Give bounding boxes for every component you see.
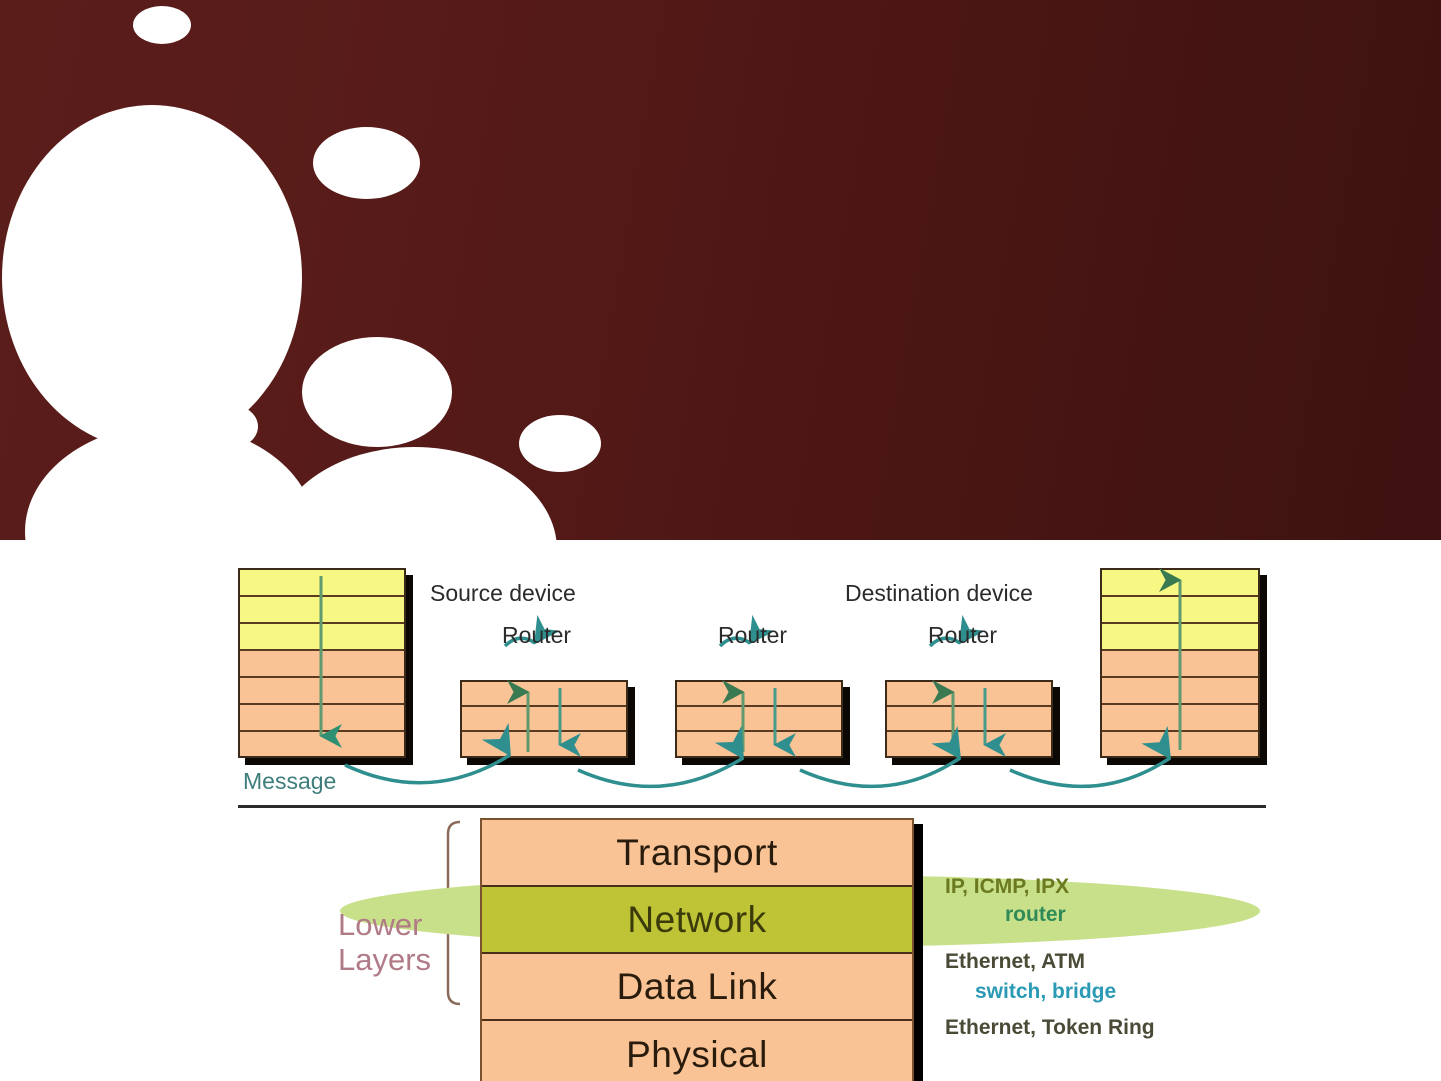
router-stack-2 [675, 680, 843, 758]
destination-device-stack [1100, 568, 1260, 758]
osi-transmission-diagram: Source device Destination device Router … [0, 540, 1441, 1081]
lower-layers-line-2: Layers [338, 943, 431, 978]
section-separator [238, 805, 1266, 808]
layer-row-network[interactable]: Network [482, 887, 912, 954]
annotation-network-protocols: IP, ICMP, IPX [945, 875, 1069, 899]
router-stack-3 [885, 680, 1053, 758]
title-banner [0, 0, 1441, 540]
source-device-stack [238, 568, 406, 758]
layer-row-datalink[interactable]: Data Link [482, 954, 912, 1021]
lower-layers-line-1: Lower [338, 908, 431, 943]
lower-layers-label: Lower Layers [338, 908, 431, 977]
annotation-physical-protocols: Ethernet, Token Ring [945, 1016, 1155, 1040]
layer-label-datalink: Data Link [617, 966, 778, 1008]
bubble-mid-lower [302, 337, 452, 447]
annotation-datalink-protocols: Ethernet, ATM [945, 950, 1085, 974]
osi-layer-table: Transport Network Data Link Physical [480, 818, 914, 1081]
layer-row-physical[interactable]: Physical [482, 1021, 912, 1081]
bubble-mid-upper [313, 127, 420, 199]
bubble-bottom-right [272, 447, 557, 540]
router-label-2: Router [718, 622, 787, 649]
destination-device-label: Destination device [845, 580, 1033, 607]
annotation-network-device: router [1005, 903, 1066, 927]
layer-row-transport[interactable]: Transport [482, 820, 912, 887]
router-stack-1 [460, 680, 628, 758]
message-label: Message [243, 768, 336, 795]
layer-label-physical: Physical [626, 1034, 768, 1076]
bubble-small-top [133, 6, 191, 44]
source-device-label: Source device [430, 580, 576, 607]
bubble-large-left [2, 105, 302, 450]
bubble-small-right [519, 415, 601, 472]
layer-label-transport: Transport [616, 832, 777, 874]
router-label-3: Router [928, 622, 997, 649]
bubble-bottom-left [25, 424, 315, 540]
annotation-datalink-device: switch, bridge [975, 980, 1116, 1004]
slide-root: Source device Destination device Router … [0, 0, 1441, 1081]
layer-label-network: Network [627, 899, 766, 941]
router-label-1: Router [502, 622, 571, 649]
